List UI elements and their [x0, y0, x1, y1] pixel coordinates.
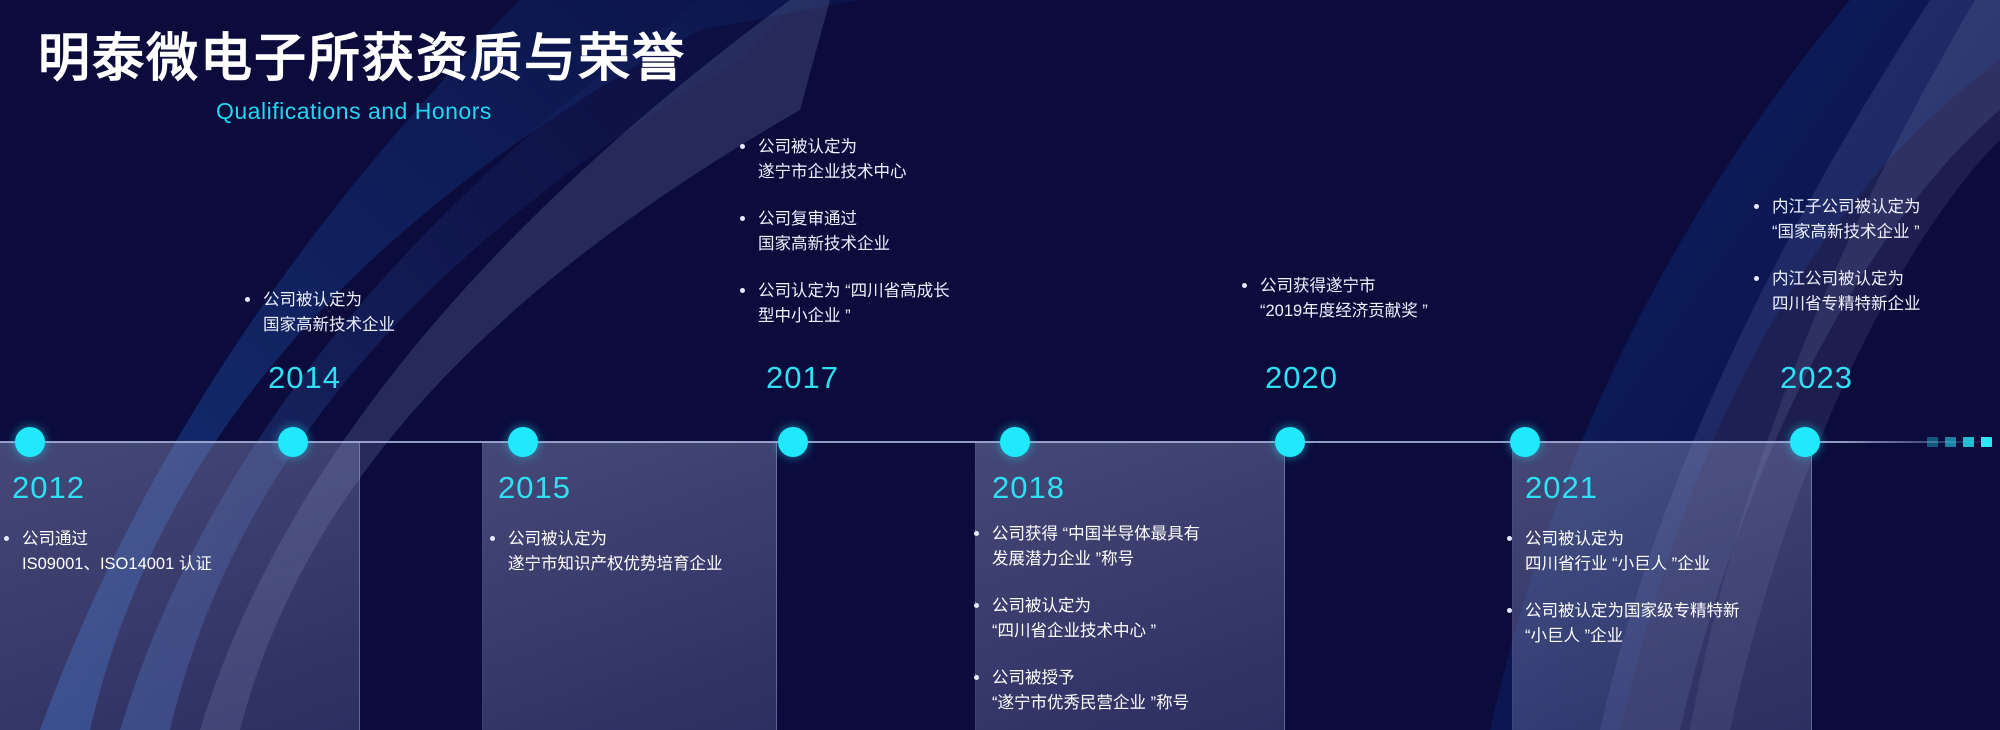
bullet: 内江子公司被认定为 “国家高新技术企业 ”	[1752, 195, 2000, 245]
timeline-node-2014[interactable]	[278, 427, 308, 457]
milestone-2021-bullets: 公司被认定为 四川省行业 “小巨人 ”企业 公司被认定为国家级专精特新 “小巨人…	[1505, 527, 1815, 649]
page-subtitle: Qualifications and Honors	[216, 98, 686, 125]
page-title: 明泰微电子所获资质与荣誉	[38, 30, 686, 90]
milestone-2020: 公司获得遂宁市 “2019年度经济贡献奖 ”	[1240, 274, 1520, 324]
year-label-2021: 2021	[1525, 470, 1598, 506]
milestone-2018: 公司获得 “中国半导体最具有 发展潜力企业 ”称号 公司被认定为 “四川省企业技…	[972, 522, 1282, 716]
milestone-2023: 内江子公司被认定为 “国家高新技术企业 ” 内江公司被认定为 四川省专精特新企业	[1752, 195, 2000, 317]
milestone-2015-bullets: 公司被认定为 遂宁市知识产权优势培育企业	[488, 527, 773, 577]
bullet: 公司获得遂宁市 “2019年度经济贡献奖 ”	[1240, 274, 1520, 324]
bullet: 内江公司被认定为 四川省专精特新企业	[1752, 267, 2000, 317]
milestone-2012-bullets: 公司通过 IS09001、ISO14001 认证	[2, 527, 302, 577]
timeline-node-2023[interactable]	[1790, 427, 1820, 457]
bullet: 公司被认定为国家级专精特新 “小巨人 ”企业	[1505, 599, 1815, 649]
axis-end-dashes	[1900, 436, 1992, 448]
bullet: 公司被认定为 遂宁市企业技术中心	[738, 135, 1018, 185]
timeline-node-2018[interactable]	[1000, 427, 1030, 457]
timeline-node-2020[interactable]	[1275, 427, 1305, 457]
header: 明泰微电子所获资质与荣誉 Qualifications and Honors	[38, 30, 686, 125]
year-label-2017: 2017	[766, 360, 839, 396]
milestone-2018-bullets: 公司获得 “中国半导体最具有 发展潜力企业 ”称号 公司被认定为 “四川省企业技…	[972, 522, 1282, 716]
bullet: 公司被认定为 遂宁市知识产权优势培育企业	[488, 527, 773, 577]
milestone-2012: 公司通过 IS09001、ISO14001 认证	[2, 527, 302, 577]
bullet: 公司获得 “中国半导体最具有 发展潜力企业 ”称号	[972, 522, 1282, 572]
milestone-2014-bullets: 公司被认定为 国家高新技术企业	[243, 288, 493, 338]
milestone-2017: 公司被认定为 遂宁市企业技术中心 公司复审通过 国家高新技术企业 公司认定为 “…	[738, 135, 1018, 329]
year-label-2012: 2012	[12, 470, 85, 506]
bullet: 公司认定为 “四川省高成长 型中小企业 ”	[738, 279, 1018, 329]
bullet: 公司复审通过 国家高新技术企业	[738, 207, 1018, 257]
year-label-2015: 2015	[498, 470, 571, 506]
bullet: 公司被认定为 国家高新技术企业	[243, 288, 493, 338]
milestone-2015: 公司被认定为 遂宁市知识产权优势培育企业	[488, 527, 773, 577]
year-label-2018: 2018	[992, 470, 1065, 506]
bullet: 公司被授予 “遂宁市优秀民营企业 ”称号	[972, 666, 1282, 716]
milestone-2023-bullets: 内江子公司被认定为 “国家高新技术企业 ” 内江公司被认定为 四川省专精特新企业	[1752, 195, 2000, 317]
bullet: 公司被认定为 四川省行业 “小巨人 ”企业	[1505, 527, 1815, 577]
milestone-2021: 公司被认定为 四川省行业 “小巨人 ”企业 公司被认定为国家级专精特新 “小巨人…	[1505, 527, 1815, 649]
timeline-node-2012[interactable]	[15, 427, 45, 457]
bullet: 公司被认定为 “四川省企业技术中心 ”	[972, 594, 1282, 644]
bullet: 公司通过 IS09001、ISO14001 认证	[2, 527, 302, 577]
slide-canvas: 明泰微电子所获资质与荣誉 Qualifications and Honors 公…	[0, 0, 2000, 730]
year-label-2014: 2014	[268, 360, 341, 396]
milestone-2020-bullets: 公司获得遂宁市 “2019年度经济贡献奖 ”	[1240, 274, 1520, 324]
year-label-2020: 2020	[1265, 360, 1338, 396]
year-label-2023: 2023	[1780, 360, 1853, 396]
milestone-2014: 公司被认定为 国家高新技术企业	[243, 288, 493, 338]
timeline-node-2021[interactable]	[1510, 427, 1540, 457]
timeline-node-2017[interactable]	[778, 427, 808, 457]
timeline-node-2015[interactable]	[508, 427, 538, 457]
milestone-2017-bullets: 公司被认定为 遂宁市企业技术中心 公司复审通过 国家高新技术企业 公司认定为 “…	[738, 135, 1018, 329]
